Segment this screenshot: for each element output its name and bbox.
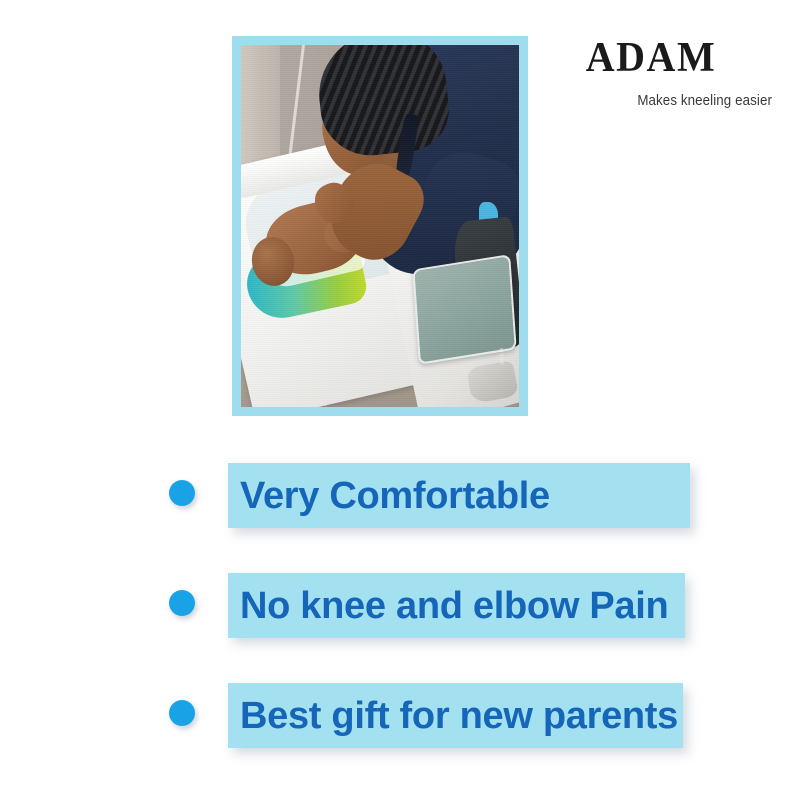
product-photo: ADAM — [241, 45, 519, 407]
brand-tagline: Makes kneeling easier — [559, 93, 772, 109]
photo-kneeling-pad-label: ADAM — [500, 346, 506, 364]
feature-label: No knee and elbow Pain — [240, 587, 668, 625]
product-photo-frame: ADAM — [232, 36, 528, 416]
photo-kneeling-pad: ADAM — [412, 254, 516, 364]
bullet-dot-icon — [169, 480, 195, 506]
bullet-dot-icon — [169, 700, 195, 726]
feature-label: Best gift for new parents — [240, 697, 678, 735]
feature-highlight-band: Best gift for new parents — [228, 683, 683, 748]
bullet-dot-icon — [169, 590, 195, 616]
feature-item: Best gift for new parents — [0, 672, 800, 782]
feature-highlight-band: No knee and elbow Pain — [228, 573, 685, 638]
feature-highlight-band: Very Comfortable — [228, 463, 690, 528]
brand-block: ADAM Makes kneeling easier — [540, 36, 772, 109]
feature-label: Very Comfortable — [240, 477, 550, 515]
feature-list: Very Comfortable No knee and elbow Pain … — [0, 452, 800, 782]
feature-item: No knee and elbow Pain — [0, 562, 800, 672]
feature-item: Very Comfortable — [0, 452, 800, 562]
brand-logo: ADAM — [540, 36, 762, 78]
